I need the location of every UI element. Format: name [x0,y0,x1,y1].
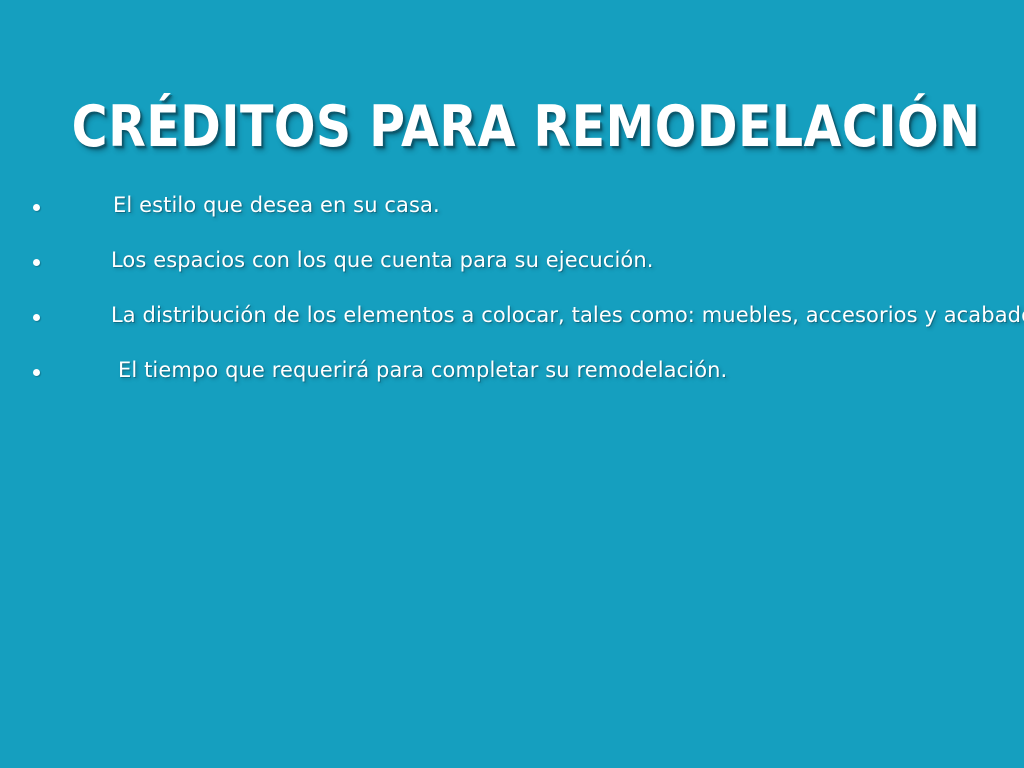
list-item-label: La distribución de los elementos a coloc… [111,300,1024,330]
list-item: Los espacios con los que cuenta para su … [0,245,1024,300]
bullet-dot-icon [33,369,40,376]
list-item-label: Los espacios con los que cuenta para su … [111,245,654,275]
list-item: El estilo que desea en su casa. [0,190,1024,245]
bullet-dot-icon [33,314,40,321]
list-item-label: El estilo que desea en su casa. [113,190,440,220]
list-item: La distribución de los elementos a coloc… [0,300,1024,355]
bullet-list: El estilo que desea en su casa. Los espa… [0,190,1024,410]
page-title: CRÉDITOS PARA REMODELACIÓN [72,95,953,159]
bullet-dot-icon [33,259,40,266]
list-item-label: El tiempo que requerirá para completar s… [118,355,727,385]
list-item: El tiempo que requerirá para completar s… [0,355,1024,410]
presentation-slide: CRÉDITOS PARA REMODELACIÓN El estilo que… [0,0,1024,768]
bullet-dot-icon [33,204,40,211]
